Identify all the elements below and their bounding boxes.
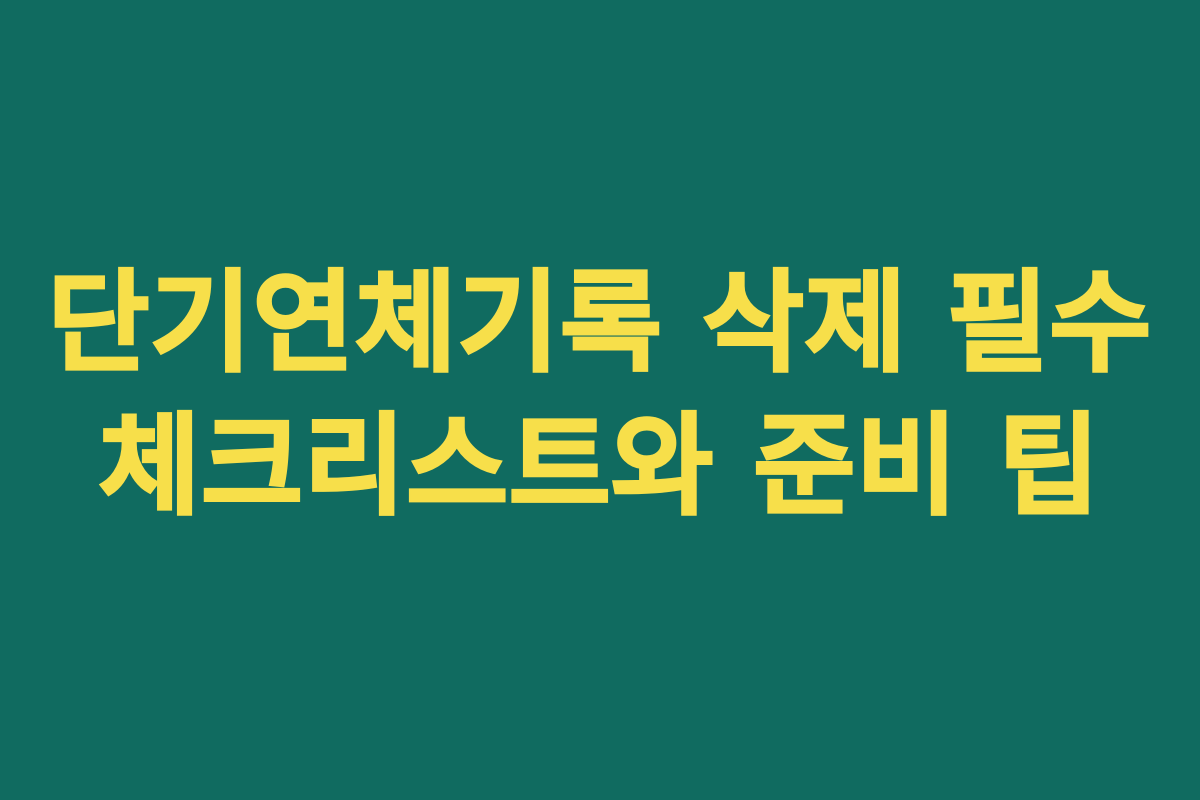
thumbnail-canvas: 단기연체기록 삭제 필수 체크리스트와 준비 팁 [0,0,1200,800]
headline-line-2: 체크리스트와 준비 팁 [0,395,1200,538]
headline-block: 단기연체기록 삭제 필수 체크리스트와 준비 팁 [0,252,1200,538]
headline-line-1: 단기연체기록 삭제 필수 [0,252,1200,395]
